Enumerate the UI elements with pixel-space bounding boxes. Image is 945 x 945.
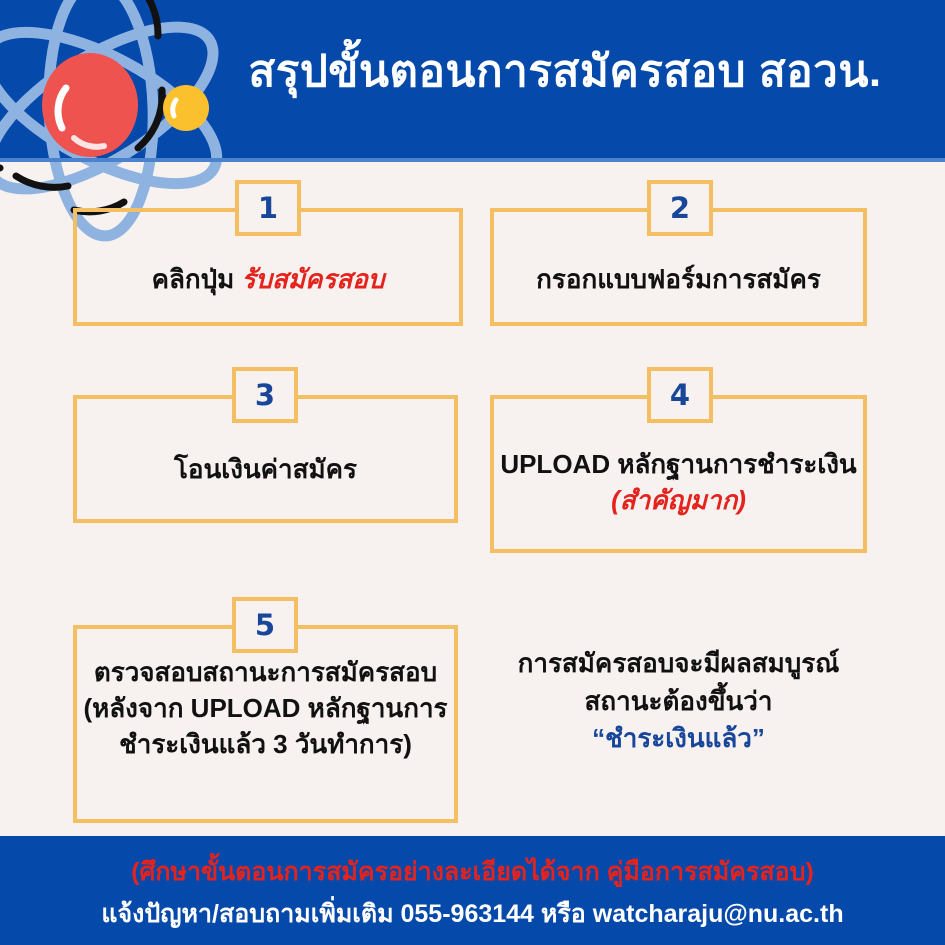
- infographic-poster: สรุปขั้นตอนการสมัครสอบ สอวน. 1 คลิกปุ่ม …: [0, 0, 945, 945]
- status-badge-paid: “ชำระเงินแล้ว”: [490, 720, 867, 758]
- step-text-5-line3: ชำระเงินแล้ว 3 วันทำการ): [73, 727, 458, 763]
- step-text-5-line1: ตรวจสอบสถานะการสมัครสอบ: [73, 655, 458, 691]
- step-text-2-plain: กรอกแบบฟอร์มการสมัคร: [536, 264, 821, 294]
- footer-contact-line: แจ้งปัญหา/สอบถามเพิ่มเติม 055-963144 หรื…: [0, 894, 945, 934]
- completion-note-line2: สถานะต้องขึ้นว่า: [490, 683, 867, 721]
- step-text-3: โอนเงินค่าสมัคร: [73, 452, 458, 488]
- step-text-3-plain: โอนเงินค่าสมัคร: [174, 454, 357, 484]
- step-text-5-line2: (หลังจาก UPLOAD หลักฐานการ: [73, 691, 458, 727]
- step-text-4-highlight: (สำคัญมาก): [490, 483, 867, 519]
- step-text-5: ตรวจสอบสถานะการสมัครสอบ (หลังจาก UPLOAD …: [73, 655, 458, 763]
- step-text-2: กรอกแบบฟอร์มการสมัคร: [490, 262, 867, 298]
- step-text-1-highlight: รับสมัครสอบ: [242, 264, 385, 294]
- footer-manual-note: (ศึกษาขั้นตอนการสมัครอย่างละเอียดได้จาก …: [0, 852, 945, 892]
- step-text-1-plain: คลิกปุ่ม: [152, 264, 242, 294]
- step-text-1: คลิกปุ่ม รับสมัครสอบ: [73, 262, 463, 298]
- step-number-5: 5: [232, 597, 298, 653]
- completion-note-line1: การสมัครสอบจะมีผลสมบูรณ์: [490, 645, 867, 683]
- banner-underline: [0, 158, 945, 162]
- step-text-4-plain: UPLOAD หลักฐานการชำระเงิน: [490, 447, 867, 483]
- header-banner: สรุปขั้นตอนการสมัครสอบ สอวน.: [0, 0, 945, 158]
- step-number-3: 3: [232, 367, 298, 423]
- footer-banner: (ศึกษาขั้นตอนการสมัครอย่างละเอียดได้จาก …: [0, 836, 945, 945]
- step-text-4: UPLOAD หลักฐานการชำระเงิน (สำคัญมาก): [490, 447, 867, 519]
- completion-note: การสมัครสอบจะมีผลสมบูรณ์ สถานะต้องขึ้นว่…: [490, 645, 867, 758]
- page-title: สรุปขั้นตอนการสมัครสอบ สอวน.: [215, 46, 915, 99]
- step-number-1: 1: [235, 180, 301, 236]
- step-number-4: 4: [647, 367, 713, 423]
- step-number-2: 2: [647, 180, 713, 236]
